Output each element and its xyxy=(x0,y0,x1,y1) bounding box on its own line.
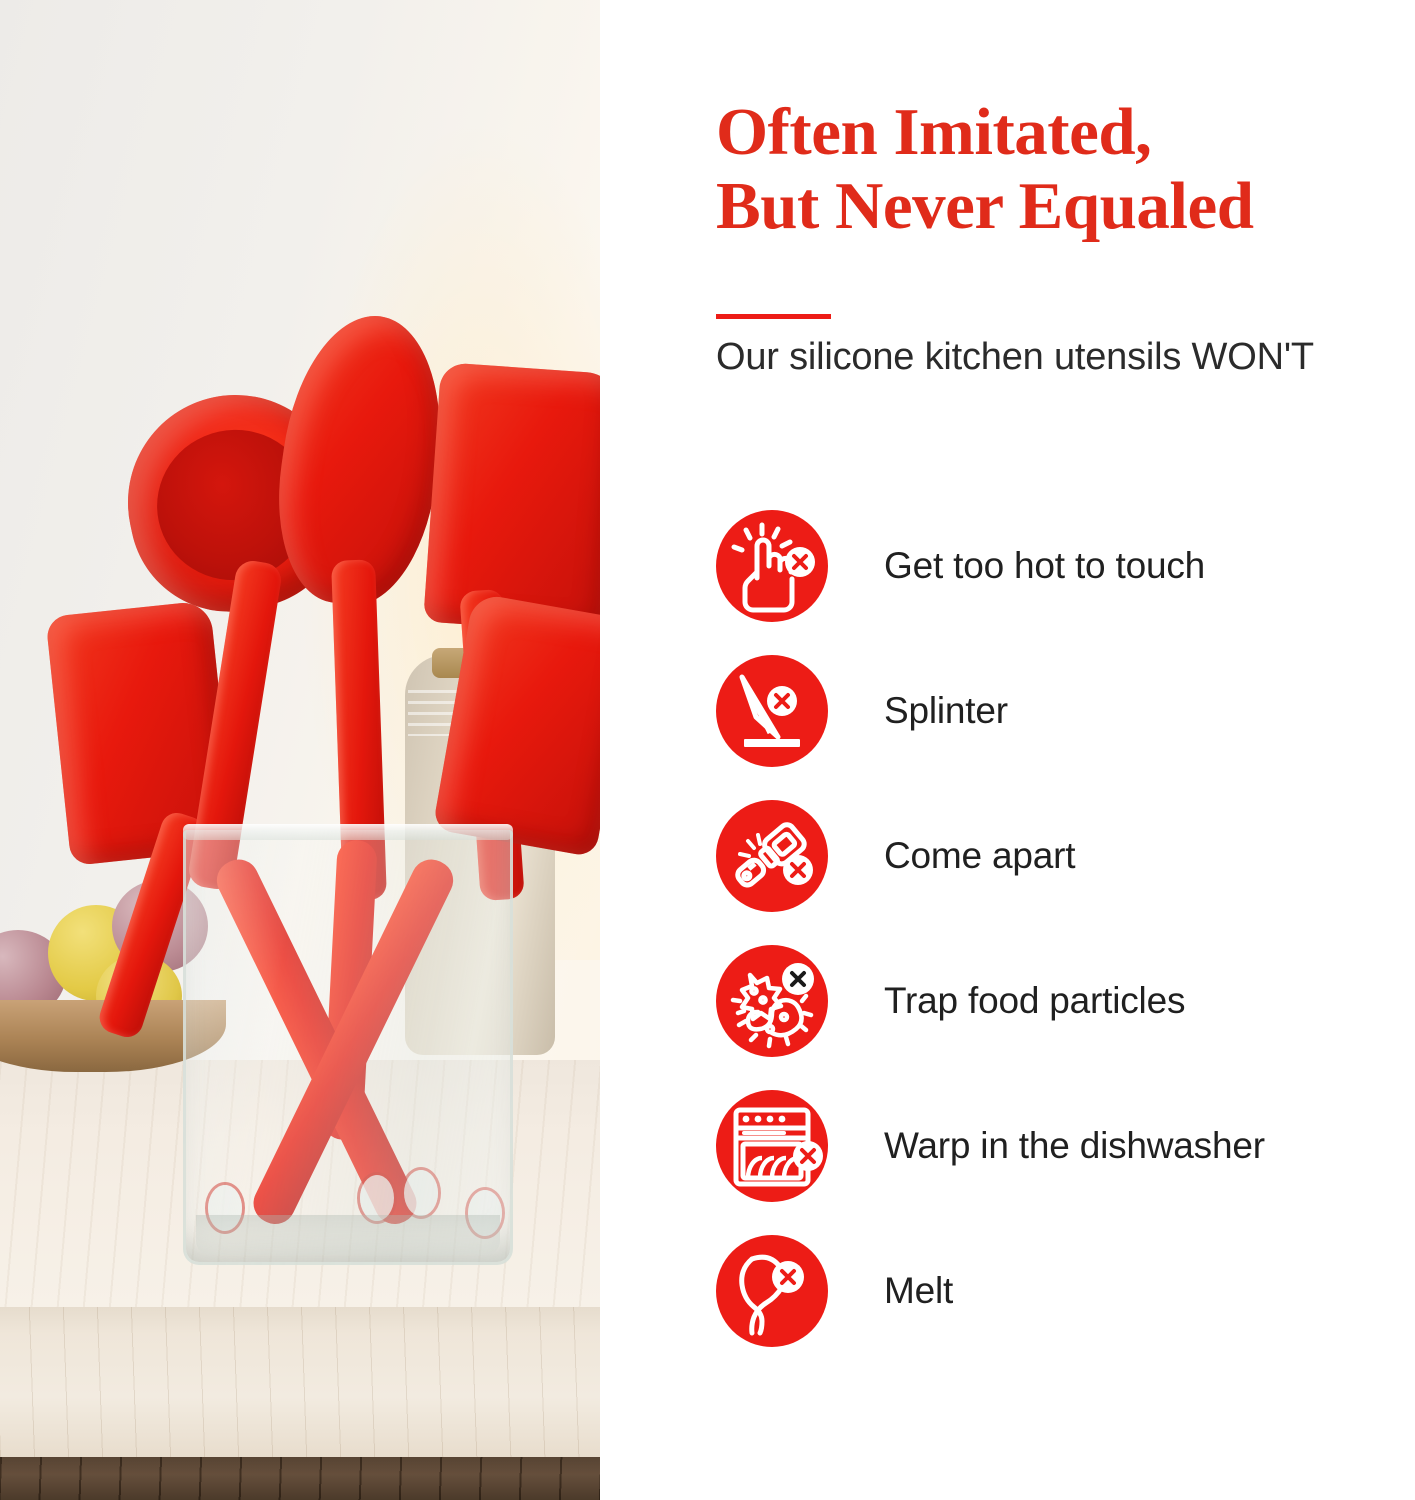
page-title: Often Imitated, But Never Equaled xyxy=(716,96,1406,243)
list-item-label: Trap food particles xyxy=(884,945,1185,1057)
list-item-label: Splinter xyxy=(884,655,1008,767)
headline-line-1: Often Imitated, xyxy=(716,96,1406,170)
list-item: Warp in the dishwasher xyxy=(716,1090,1415,1235)
germs-icon xyxy=(716,945,828,1057)
list-item-label: Warp in the dishwasher xyxy=(884,1090,1265,1202)
melt-icon xyxy=(716,1235,828,1347)
list-item: Splinter xyxy=(716,655,1415,800)
list-item: Get too hot to touch xyxy=(716,510,1415,655)
splinter-icon xyxy=(716,655,828,767)
title-divider xyxy=(716,314,831,319)
glass-utensil-jar xyxy=(183,830,513,1265)
content-panel: Often Imitated, But Never Equaled Our si… xyxy=(600,0,1415,1500)
utensil-spatula-right xyxy=(423,362,600,634)
list-item-label: Melt xyxy=(884,1235,953,1347)
floor xyxy=(0,1457,600,1500)
list-item: Come apart xyxy=(716,800,1415,945)
list-item-label: Get too hot to touch xyxy=(884,510,1205,622)
list-item: Melt xyxy=(716,1235,1415,1380)
product-infographic: Often Imitated, But Never Equaled Our si… xyxy=(0,0,1415,1500)
come-apart-icon xyxy=(716,800,828,912)
dishwasher-icon xyxy=(716,1090,828,1202)
product-photo xyxy=(0,0,600,1500)
countertop-edge xyxy=(0,1307,600,1457)
hot-touch-icon xyxy=(716,510,828,622)
list-item-label: Come apart xyxy=(884,800,1075,912)
glass-jar-base xyxy=(196,1215,500,1255)
list-item: Trap food particles xyxy=(716,945,1415,1090)
subtitle: Our silicone kitchen utensils WON'T xyxy=(716,336,1415,379)
feature-list: Get too hot to touch Splinter xyxy=(716,510,1415,1380)
headline-line-2: But Never Equaled xyxy=(716,170,1406,244)
